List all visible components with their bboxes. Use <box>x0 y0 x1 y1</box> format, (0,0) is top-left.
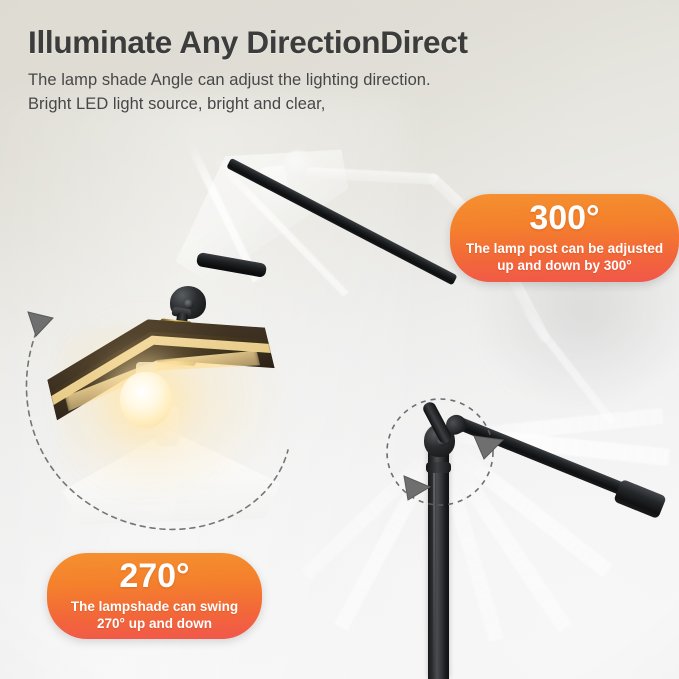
badge-270-description-line-1: The lampshade can swing <box>71 599 238 614</box>
badge-300-description: The lamp post can be adjusted up and dow… <box>456 241 673 275</box>
subtitle-line-2: Bright LED light source, bright and clea… <box>28 95 325 114</box>
badge-270-degree: 270° The lampshade can swing 270° up and… <box>47 553 262 639</box>
badge-300-value: 300° <box>529 201 599 235</box>
badge-270-description: The lampshade can swing 270° up and down <box>61 599 248 633</box>
badge-300-description-line-2: up and down by 300° <box>497 258 631 273</box>
page-title: Illuminate Any DirectionDirect <box>28 24 468 61</box>
infographic-canvas: Illuminate Any DirectionDirect The lamp … <box>0 0 679 679</box>
badge-270-value: 270° <box>119 559 189 593</box>
badge-270-description-line-2: 270° up and down <box>97 616 212 631</box>
badge-300-degree: 300° The lamp post can be adjusted up an… <box>450 194 679 282</box>
subtitle-line-1: The lamp shade Angle can adjust the ligh… <box>28 71 431 90</box>
badge-300-description-line-1: The lamp post can be adjusted <box>466 241 663 256</box>
